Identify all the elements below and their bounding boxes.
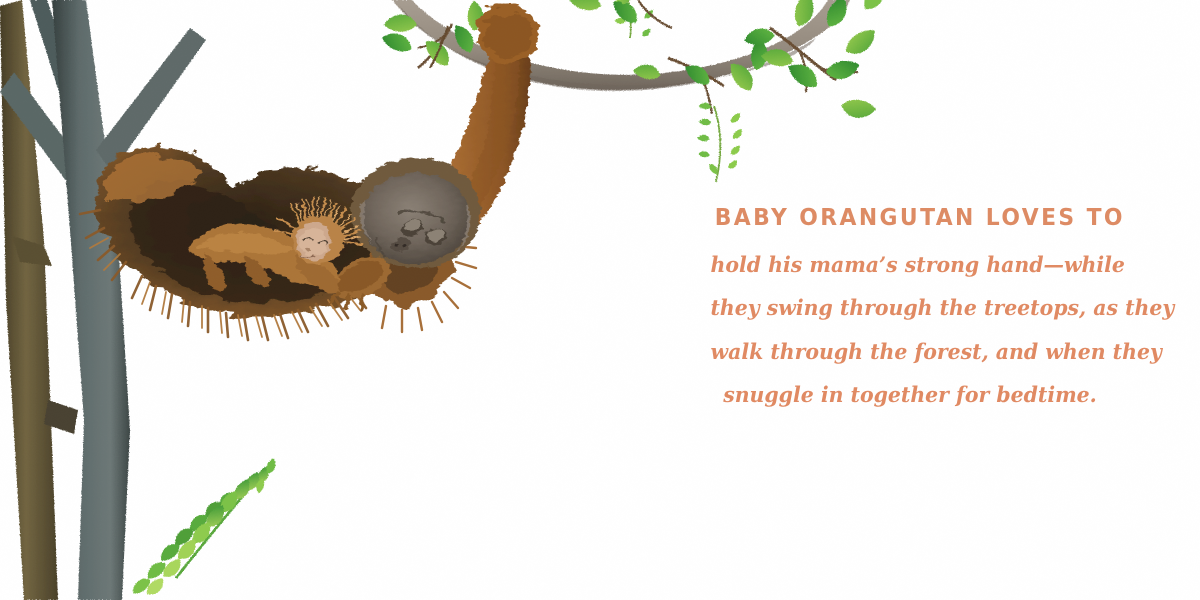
- story-line-3: walk through the forest, and when they: [711, 342, 1110, 364]
- story-line-2: they swing through the treetops, as they: [711, 298, 1110, 320]
- page-headline: BABY ORANGUTAN LOVES TO: [715, 205, 1106, 231]
- story-line-4: snuggle in together for bedtime.: [711, 385, 1110, 407]
- story-text-block: BABY ORANGUTAN LOVES TO hold his mama’s …: [700, 205, 1120, 407]
- story-line-1: hold his mama’s strong hand—while: [711, 255, 1110, 277]
- picture-book-page: BABY ORANGUTAN LOVES TO hold his mama’s …: [0, 0, 1200, 600]
